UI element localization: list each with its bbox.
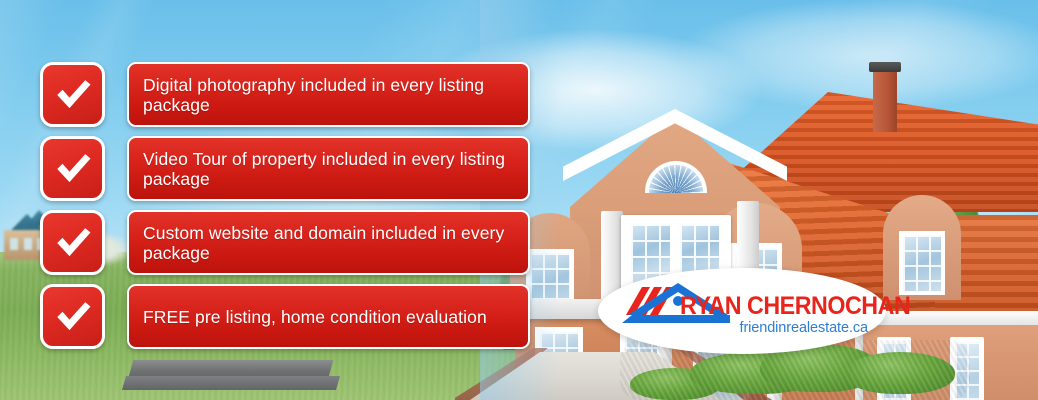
check-icon <box>40 62 105 127</box>
checklist-item-1-text: Digital photography included in every li… <box>143 75 518 115</box>
checklist-row: Video Tour of property included in every… <box>40 136 530 201</box>
distant-house-window <box>24 238 32 250</box>
logo-text-block: RYAN CHERNOCHAN friendinrealestate.ca <box>680 293 870 336</box>
distant-house-window <box>10 238 18 250</box>
checklist-item-4: FREE pre listing, home condition evaluat… <box>127 284 530 349</box>
checklist-row: FREE pre listing, home condition evaluat… <box>40 284 530 349</box>
logo-website: friendinrealestate.ca <box>680 320 870 336</box>
dormer-far-right <box>883 195 961 300</box>
checklist-item-3-text: Custom website and domain included in ev… <box>143 223 518 263</box>
logo-inner: RYAN CHERNOCHAN friendinrealestate.ca <box>616 279 868 343</box>
checklist-item-1: Digital photography included in every li… <box>127 62 530 127</box>
checklist-item-3: Custom website and domain included in ev… <box>127 210 530 275</box>
check-icon-glyph <box>52 74 94 116</box>
checklist-row: Custom website and domain included in ev… <box>40 210 530 275</box>
chimney-cap <box>869 62 901 72</box>
dormer-window <box>899 231 945 295</box>
check-icon-glyph <box>52 296 94 338</box>
checklist-item-2-text: Video Tour of property included in every… <box>143 149 518 189</box>
chimney <box>873 70 897 132</box>
check-icon-glyph <box>52 222 94 264</box>
brand-logo[interactable]: RYAN CHERNOCHAN friendinrealestate.ca <box>598 268 886 354</box>
checklist-row: Digital photography included in every li… <box>40 62 530 127</box>
porch-step <box>122 376 340 390</box>
checklist-item-2: Video Tour of property included in every… <box>127 136 530 201</box>
check-icon <box>40 284 105 349</box>
logo-company-name: RYAN CHERNOCHAN <box>680 293 857 319</box>
checklist-item-4-text: FREE pre listing, home condition evaluat… <box>143 307 487 327</box>
check-icon <box>40 210 105 275</box>
check-icon <box>40 136 105 201</box>
feature-checklist: Digital photography included in every li… <box>40 62 530 349</box>
real-estate-banner: Digital photography included in every li… <box>0 0 1038 400</box>
check-icon-glyph <box>52 148 94 190</box>
